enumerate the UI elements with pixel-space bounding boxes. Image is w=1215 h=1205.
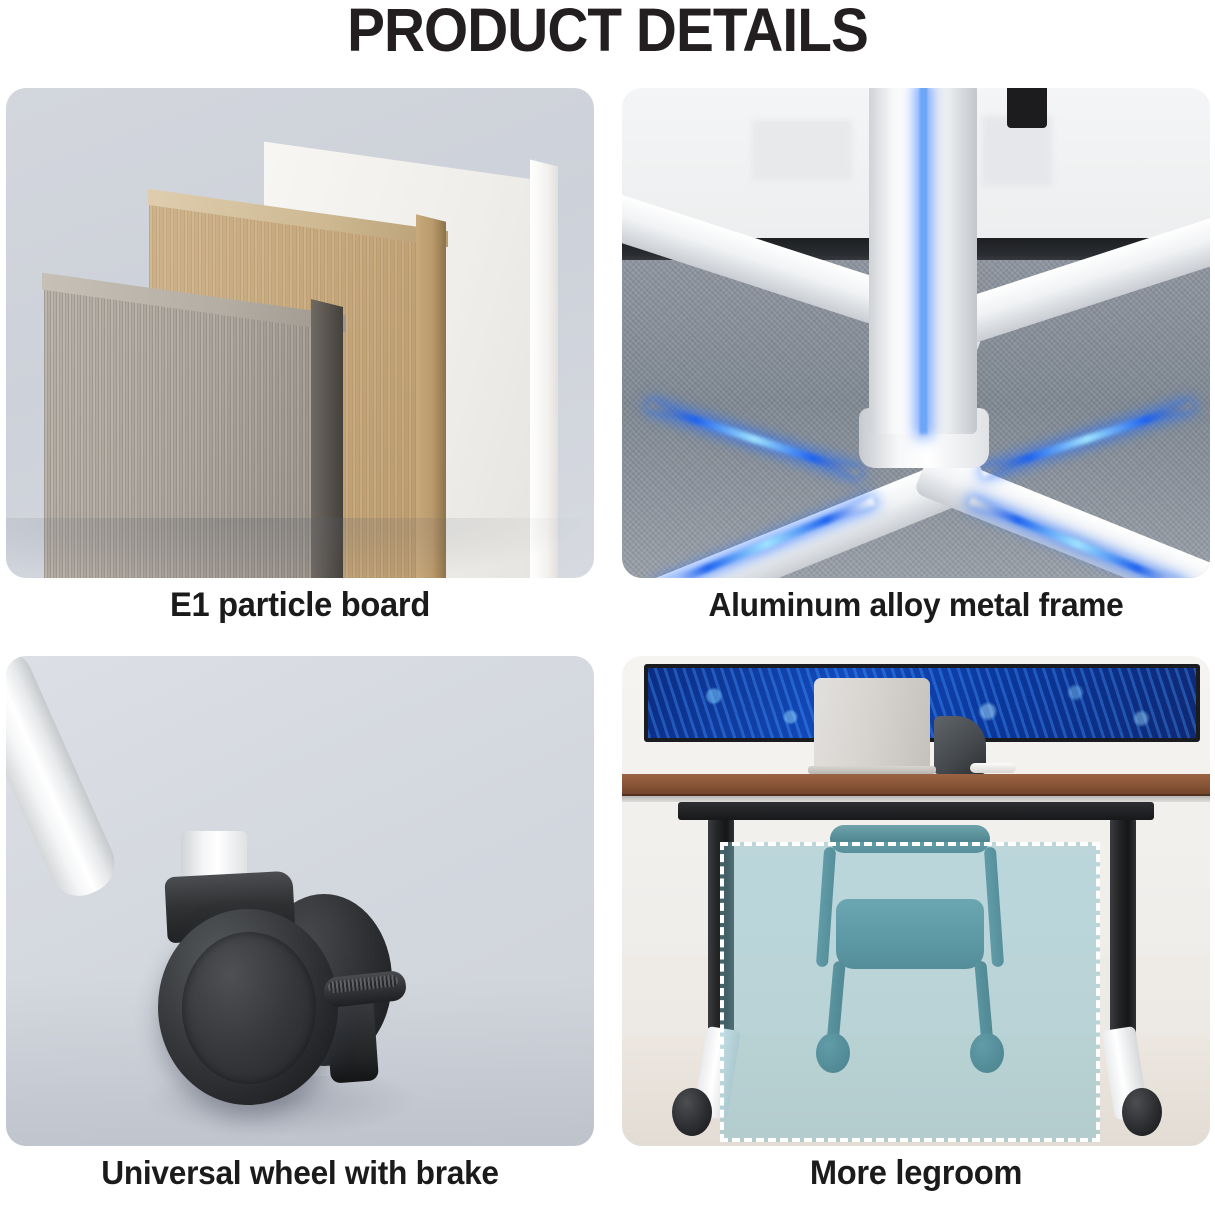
ceiling-bracket-clip [1007, 88, 1047, 128]
mouse [970, 763, 1016, 773]
caption-more-legroom: More legroom [634, 1154, 1198, 1193]
photo-legroom [622, 656, 1210, 1146]
panel-aluminum-alloy-metal-frame: Aluminum alloy metal frame [622, 88, 1210, 578]
panel-e1-particle-board: E1 particle board [6, 88, 594, 578]
board-white-edge [530, 160, 558, 578]
desk-leg-post-right [1110, 816, 1136, 1036]
desk-top [622, 774, 1210, 796]
laptop-base [808, 766, 936, 774]
caption-e1-particle-board: E1 particle board [18, 586, 582, 625]
blue-glow-column [919, 88, 928, 434]
laptop-lid [814, 678, 930, 770]
table-leg [6, 656, 124, 905]
panel-universal-wheel-with-brake: Universal wheel with brake [6, 656, 594, 1146]
photo-e1-particle-board [6, 88, 594, 578]
desk-caster-right [1122, 1088, 1162, 1136]
board-shadow [6, 518, 594, 578]
photo-aluminum-frame [622, 88, 1210, 578]
caster-wheel-hubcap [182, 932, 316, 1084]
panel-grid: E1 particle board [6, 88, 1209, 1198]
desk-top-edge [622, 794, 1210, 802]
product-details-infographic: PRODUCT DETAILS E1 particle board [0, 0, 1215, 1205]
photo-caster-wheel [6, 656, 594, 1146]
page-title: PRODUCT DETAILS [43, 0, 1173, 64]
caption-aluminum-alloy-metal-frame: Aluminum alloy metal frame [634, 586, 1198, 624]
desk-apron [678, 802, 1154, 820]
wall-panel-left [752, 120, 852, 180]
legroom-highlight-zone [720, 842, 1100, 1142]
panel-more-legroom: More legroom [622, 656, 1210, 1146]
caption-universal-wheel-with-brake: Universal wheel with brake [18, 1154, 582, 1192]
desk-caster-left [672, 1088, 712, 1136]
